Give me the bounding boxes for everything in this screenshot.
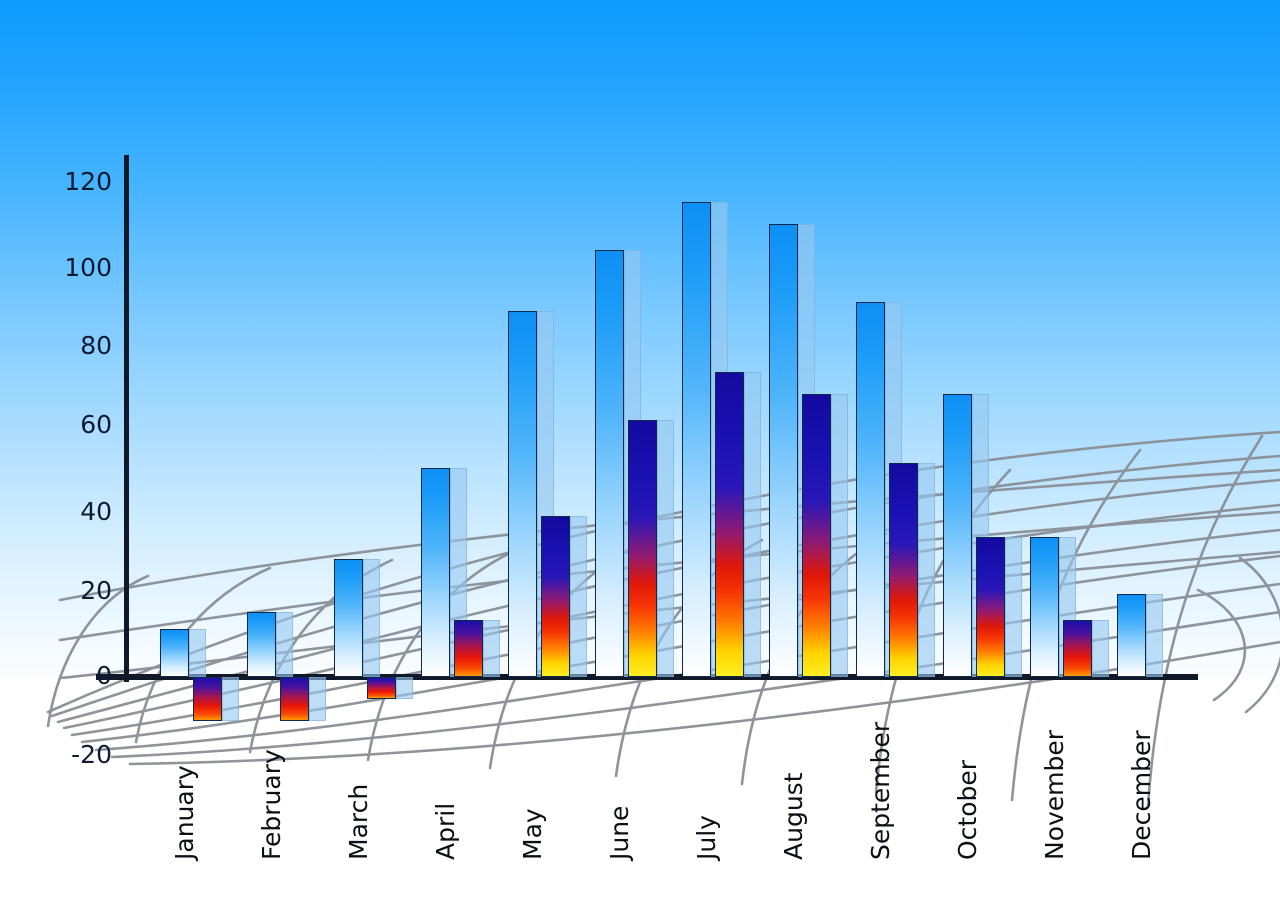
bar-september-series-blue[interactable] [856, 302, 885, 677]
y-tick-label: 40 [80, 499, 112, 524]
bar-3d-side [363, 559, 380, 677]
y-axis-line [124, 155, 129, 682]
x-axis-label-october: October [955, 760, 981, 860]
bar-may-series-heat[interactable] [541, 516, 570, 677]
bar-face [943, 394, 972, 677]
bar-3d-side [918, 463, 935, 677]
bar-march-series-heat[interactable] [367, 677, 396, 699]
bar-face [160, 629, 189, 677]
bar-face [334, 559, 363, 677]
x-axis-label-december: December [1129, 730, 1155, 860]
bar-face [1117, 594, 1146, 677]
bar-face [889, 463, 918, 677]
bar-3d-side [276, 612, 293, 677]
bar-june-series-heat[interactable] [628, 420, 657, 677]
x-axis-label-march: March [346, 784, 372, 860]
bar-3d-side [483, 620, 500, 677]
bar-april-series-blue[interactable] [421, 468, 450, 677]
bar-face [595, 250, 624, 677]
x-axis-label-july: July [694, 815, 720, 860]
x-axis-label-january: January [172, 765, 198, 860]
bar-3d-side [1146, 594, 1163, 677]
bar-3d-side [744, 372, 761, 677]
bar-april-series-heat[interactable] [454, 620, 483, 677]
bar-november-series-heat[interactable] [1063, 620, 1092, 677]
bar-3d-side [831, 394, 848, 677]
bar-face [508, 311, 537, 677]
bar-june-series-blue[interactable] [595, 250, 624, 677]
bar-august-series-blue[interactable] [769, 224, 798, 677]
x-axis-label-may: May [520, 808, 546, 860]
bar-face [280, 677, 309, 721]
chart-plot-area: 120 100 80 60 40 20 0 -20 JanuaryFebruar… [0, 0, 1280, 905]
bar-face [769, 224, 798, 677]
x-axis-label-february: February [259, 749, 285, 860]
bar-may-series-blue[interactable] [508, 311, 537, 677]
y-tick-label: 0 [96, 663, 112, 688]
y-tick-label: 80 [80, 333, 112, 358]
bar-face [541, 516, 570, 677]
bar-face [421, 468, 450, 677]
bar-face [193, 677, 222, 721]
bar-3d-side [1092, 620, 1109, 677]
y-tick-label: -20 [71, 742, 112, 767]
bar-3d-side [570, 516, 587, 677]
bar-february-series-blue[interactable] [247, 612, 276, 677]
bar-face [715, 372, 744, 677]
bar-3d-side [309, 677, 326, 721]
bar-3d-side [657, 420, 674, 677]
bar-february-series-heat[interactable] [280, 677, 309, 721]
y-tick-label: 120 [64, 169, 112, 194]
bar-face [628, 420, 657, 677]
bar-november-series-blue[interactable] [1030, 537, 1059, 677]
x-axis-label-september: September [868, 722, 894, 860]
bar-july-series-heat[interactable] [715, 372, 744, 677]
bar-face [247, 612, 276, 677]
bar-march-series-blue[interactable] [334, 559, 363, 677]
bar-january-series-blue[interactable] [160, 629, 189, 677]
bar-january-series-heat[interactable] [193, 677, 222, 721]
bar-face [1030, 537, 1059, 677]
bar-august-series-heat[interactable] [802, 394, 831, 677]
bar-face [367, 677, 396, 699]
bar-october-series-blue[interactable] [943, 394, 972, 677]
bar-3d-side [396, 677, 413, 699]
y-tick-label: 60 [80, 412, 112, 437]
bar-october-series-heat[interactable] [976, 537, 1005, 677]
y-tick-label: 20 [80, 578, 112, 603]
x-axis-label-november: November [1042, 730, 1068, 860]
y-tick-label: 100 [64, 255, 112, 280]
bar-3d-side [189, 629, 206, 677]
bar-chart-root: 120 100 80 60 40 20 0 -20 JanuaryFebruar… [0, 0, 1280, 905]
bar-3d-side [1005, 537, 1022, 677]
x-axis-label-august: August [781, 773, 807, 861]
bar-face [454, 620, 483, 677]
bar-face [856, 302, 885, 677]
x-axis-label-june: June [607, 806, 633, 860]
bar-july-series-blue[interactable] [682, 202, 711, 677]
bar-face [802, 394, 831, 677]
bar-face [976, 537, 1005, 677]
bar-3d-side [222, 677, 239, 721]
bar-face [1063, 620, 1092, 677]
bar-december-series-blue[interactable] [1117, 594, 1146, 677]
x-axis-label-april: April [433, 803, 459, 860]
bar-face [682, 202, 711, 677]
bar-september-series-heat[interactable] [889, 463, 918, 677]
